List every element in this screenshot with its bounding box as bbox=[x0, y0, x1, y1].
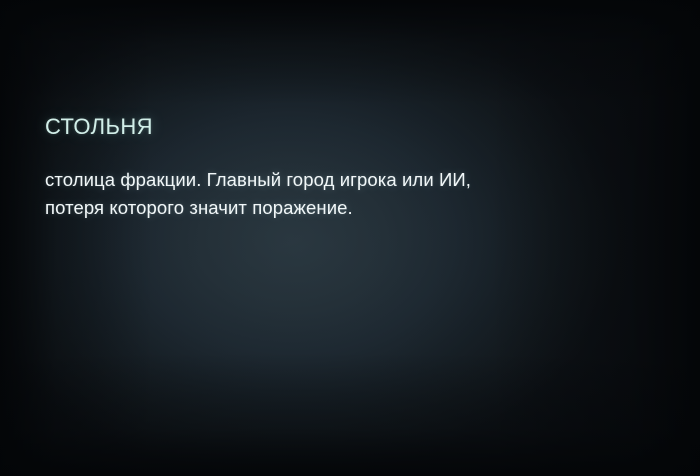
background-vignette bbox=[0, 0, 700, 476]
glossary-entry: Стольня столица фракции. Главный город и… bbox=[45, 104, 645, 222]
entry-description-line-1: столица фракции. Главный город игрока ил… bbox=[45, 166, 585, 194]
background-soft-haze bbox=[0, 0, 700, 476]
entry-description: столица фракции. Главный город игрока ил… bbox=[45, 166, 585, 222]
entry-description-line-2: потеря которого значит поражение. bbox=[45, 194, 585, 222]
background-radial-glow bbox=[0, 0, 700, 476]
tooltip-screen: Стольня столица фракции. Главный город и… bbox=[0, 0, 700, 476]
entry-title: Стольня bbox=[45, 104, 645, 144]
